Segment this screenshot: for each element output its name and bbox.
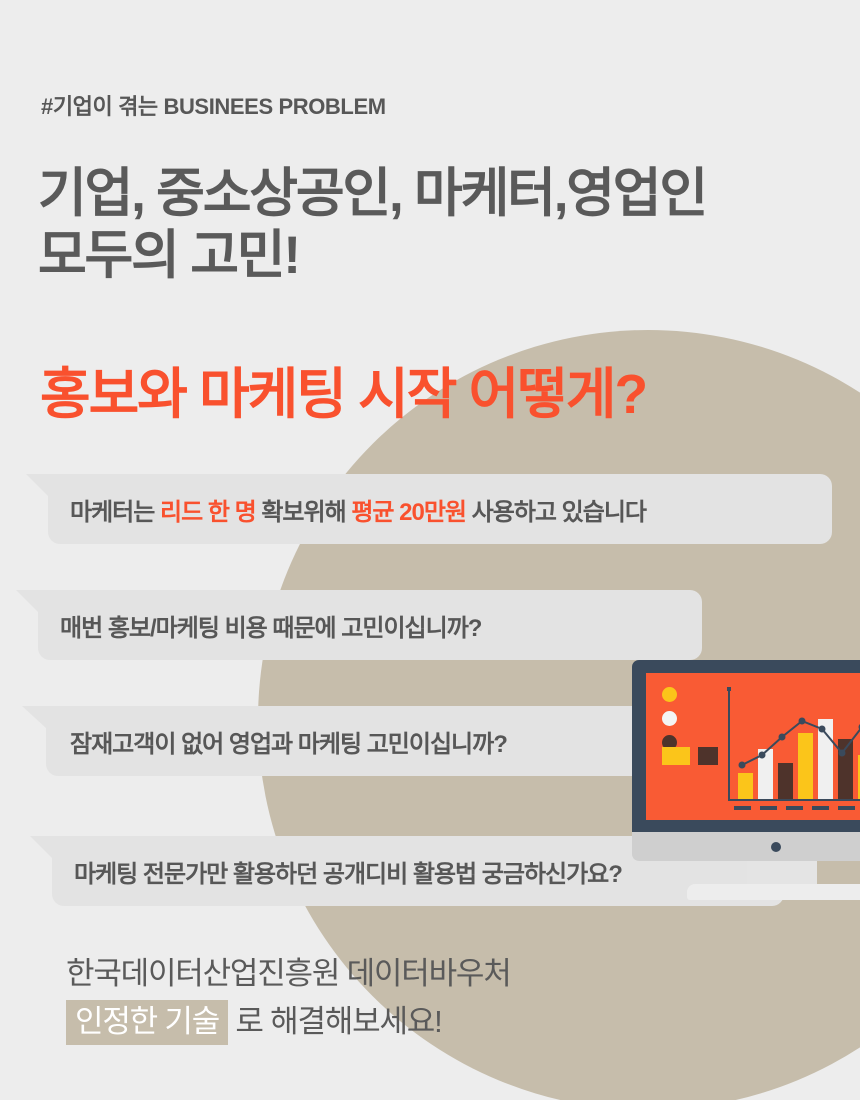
plain-phrase: 매번 홍보/마케팅 비용 때문에 고민이십니까? — [60, 615, 481, 642]
footer-line-1: 한국데이터산업진흥원 데이터바우처 — [66, 956, 511, 991]
chart-tick — [838, 806, 855, 810]
highlighted-phrase: 리드 한 명 — [160, 499, 256, 526]
dashboard-swatches — [662, 747, 718, 765]
speech-bubble: 마케터는 리드 한 명 확보위해 평균 20만원 사용하고 있습니다 — [48, 474, 832, 544]
chart-line-point — [739, 762, 746, 769]
accent-headline: 홍보와 마케팅 시작 어떻게? — [40, 349, 646, 429]
footer-message: 한국데이터산업진흥원 데이터바우처 인정한 기술 로 해결해보세요! — [66, 952, 511, 1044]
chart-tick — [786, 806, 803, 810]
chart-line-point — [799, 718, 806, 725]
chart-line-point — [779, 734, 786, 741]
speech-bubble-text: 마케터는 리드 한 명 확보위해 평균 20만원 사용하고 있습니다 — [70, 492, 646, 527]
chart-tick — [734, 806, 751, 810]
plain-phrase: 사용하고 있습니다 — [466, 499, 646, 526]
headline-line-2: 모두의 고민! — [38, 225, 828, 287]
dashboard-text-block — [662, 771, 708, 789]
monitor-chin — [632, 832, 860, 861]
plain-phrase: 확보위해 — [256, 499, 352, 526]
swatch-dark — [698, 747, 718, 765]
legend-dot-white-icon — [662, 711, 677, 726]
highlighted-phrase: 평균 20만원 — [351, 499, 466, 526]
speech-bubble-text: 매번 홍보/마케팅 비용 때문에 고민이십니까? — [60, 608, 481, 643]
legend-item — [662, 711, 686, 726]
poster-canvas: #기업이 겪는 BUSINEES PROBLEM 기업, 중소상공인, 마케터,… — [0, 0, 860, 1100]
monitor-bezel — [632, 660, 860, 832]
speech-bubble: 잠재고객이 없어 영업과 마케팅 고민이십니까? — [46, 706, 688, 776]
plain-phrase: 마케팅 전문가만 활용하던 공개디비 활용법 궁금하신가요? — [74, 861, 622, 888]
chart-x-ticks — [734, 806, 860, 810]
speech-bubble-text: 잠재고객이 없어 영업과 마케팅 고민이십니까? — [70, 724, 507, 759]
footer-line-2-rest: 로 해결해보세요! — [228, 1004, 441, 1039]
footer-line-2: 인정한 기술 로 해결해보세요! — [66, 1000, 511, 1044]
chart-line-point — [819, 726, 826, 733]
chart-line-point — [839, 750, 846, 757]
plain-phrase: 마케터는 — [70, 499, 160, 526]
legend-item — [662, 687, 686, 702]
monitor-power-indicator-icon — [771, 842, 781, 852]
footer-highlight-badge: 인정한 기술 — [66, 1000, 228, 1045]
dashboard-text-column — [662, 771, 692, 789]
monitor-screen — [646, 673, 860, 820]
speech-bubble-text: 마케팅 전문가만 활용하던 공개디비 활용법 궁금하신가요? — [74, 854, 622, 889]
page-title: 기업, 중소상공인, 마케터,영업인 모두의 고민! — [38, 163, 828, 287]
monitor-stand-base — [687, 884, 860, 900]
legend-dot-yellow-icon — [662, 687, 677, 702]
plain-phrase: 잠재고객이 없어 영업과 마케팅 고민이십니까? — [70, 731, 507, 758]
desktop-monitor-illustration — [632, 660, 860, 861]
chart-line-series — [728, 685, 860, 813]
chart-tick — [760, 806, 777, 810]
chart-tick — [812, 806, 829, 810]
dashboard-chart — [728, 685, 860, 813]
speech-bubble: 매번 홍보/마케팅 비용 때문에 고민이십니까? — [38, 590, 702, 660]
headline-line-1: 기업, 중소상공인, 마케터,영업인 — [38, 164, 706, 223]
chart-line-point — [759, 752, 766, 759]
eyebrow-tagline: #기업이 겪는 BUSINEES PROBLEM — [41, 89, 386, 121]
swatch-yellow — [662, 747, 690, 765]
